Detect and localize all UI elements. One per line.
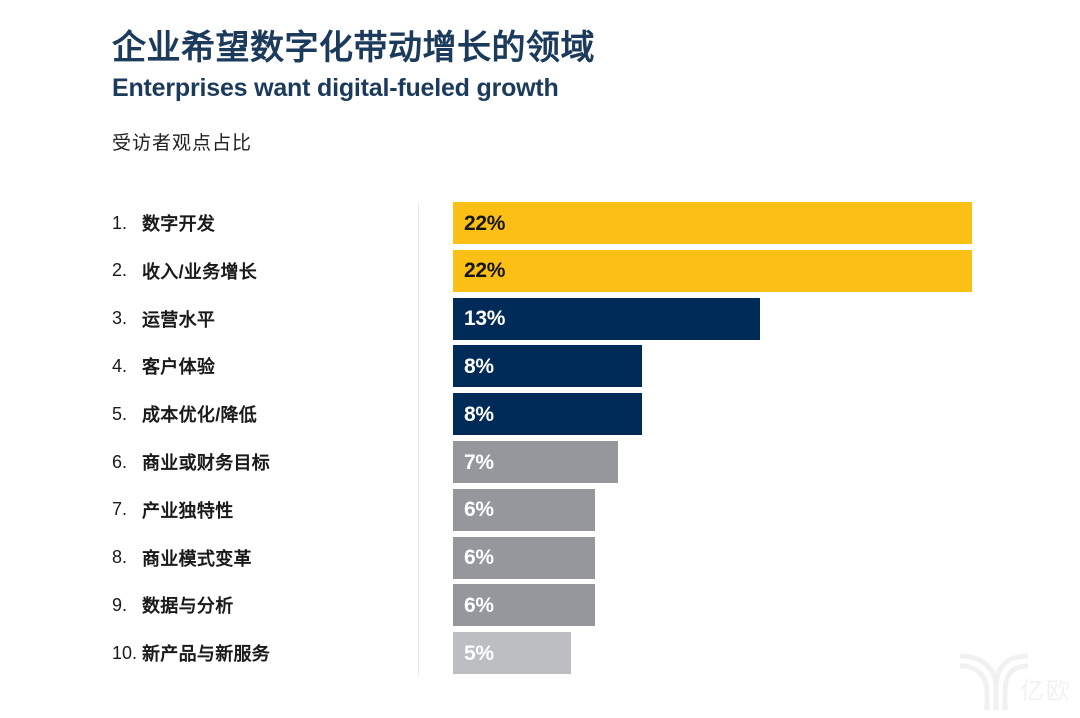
bar: 22% [453, 202, 972, 244]
bar-row-category: 数字开发 [142, 210, 215, 236]
bar-row-label: 6.商业或财务目标 [112, 441, 412, 483]
bar-row-category: 成本优化/降低 [142, 401, 257, 427]
bar-value-label: 6% [453, 499, 494, 520]
bar-row-label: 1.数字开发 [112, 202, 412, 244]
bar-value-label: 6% [453, 595, 494, 616]
bar-value-label: 8% [453, 404, 494, 425]
bar-row-label: 8.商业模式变革 [112, 537, 412, 579]
chart-subtitle: 受访者观点占比 [112, 128, 972, 155]
chart-header: 企业希望数字化带动增长的领域 Enterprises want digital-… [112, 28, 972, 155]
bar: 5% [453, 632, 571, 674]
bar-row-label: 2.收入/业务增长 [112, 250, 412, 292]
bar-row-label: 3.运营水平 [112, 298, 412, 340]
bar-row-category: 商业模式变革 [142, 545, 252, 571]
bar-row-category: 收入/业务增长 [142, 258, 257, 284]
bar-row-rank: 3. [112, 308, 142, 329]
bar-row: 6.商业或财务目标7% [0, 441, 1080, 483]
bar: 6% [453, 489, 595, 531]
bar-row-category: 客户体验 [142, 353, 215, 379]
bar-chart: 1.数字开发22%2.收入/业务增长22%3.运营水平13%4.客户体验8%5.… [0, 196, 1080, 696]
bar-row-category: 商业或财务目标 [142, 449, 270, 475]
bar: 13% [453, 298, 760, 340]
bar-value-label: 22% [453, 260, 505, 281]
bar-value-label: 7% [453, 452, 494, 473]
bar-row-label: 7.产业独特性 [112, 489, 412, 531]
bar: 8% [453, 393, 642, 435]
bar-row-rank: 2. [112, 260, 142, 281]
bar-row-rank: 9. [112, 595, 142, 616]
bar-value-label: 8% [453, 356, 494, 377]
bar: 7% [453, 441, 618, 483]
page-title-chinese: 企业希望数字化带动增长的领域 [112, 28, 972, 68]
bar-row-rank: 5. [112, 404, 142, 425]
chart-page: 企业希望数字化带动增长的领域 Enterprises want digital-… [0, 0, 1080, 718]
bar-value-label: 6% [453, 547, 494, 568]
bar-row: 8.商业模式变革6% [0, 537, 1080, 579]
bar-row: 5.成本优化/降低8% [0, 393, 1080, 435]
bar-row: 10.新产品与新服务5% [0, 632, 1080, 674]
bar-row: 2.收入/业务增长22% [0, 250, 1080, 292]
bar-row-label: 4.客户体验 [112, 345, 412, 387]
bar: 8% [453, 345, 642, 387]
bar-row-label: 9.数据与分析 [112, 584, 412, 626]
bar-row-rank: 4. [112, 356, 142, 377]
bar-row-label: 10.新产品与新服务 [112, 632, 412, 674]
bar-row-label: 5.成本优化/降低 [112, 393, 412, 435]
bar-row-rank: 8. [112, 547, 142, 568]
page-title-english: Enterprises want digital-fueled growth [112, 73, 972, 103]
bar-row-rank: 10. [112, 643, 142, 664]
bar: 6% [453, 584, 595, 626]
bar-row-category: 运营水平 [142, 306, 215, 332]
bar-value-label: 5% [453, 643, 494, 664]
bar: 22% [453, 250, 972, 292]
bar-row-category: 新产品与新服务 [142, 640, 270, 666]
bar-value-label: 13% [453, 308, 505, 329]
bar-row: 1.数字开发22% [0, 202, 1080, 244]
bar-row: 4.客户体验8% [0, 345, 1080, 387]
bar-row: 3.运营水平13% [0, 298, 1080, 340]
bar-row: 9.数据与分析6% [0, 584, 1080, 626]
watermark-text: 亿欧 [1020, 671, 1072, 706]
bar-row-rank: 7. [112, 499, 142, 520]
bar-value-label: 22% [453, 213, 505, 234]
bar-row-category: 数据与分析 [142, 592, 234, 618]
bar-row-category: 产业独特性 [142, 497, 234, 523]
bar: 6% [453, 537, 595, 579]
bar-row-rank: 6. [112, 452, 142, 473]
bar-row: 7.产业独特性6% [0, 489, 1080, 531]
bar-row-rank: 1. [112, 213, 142, 234]
